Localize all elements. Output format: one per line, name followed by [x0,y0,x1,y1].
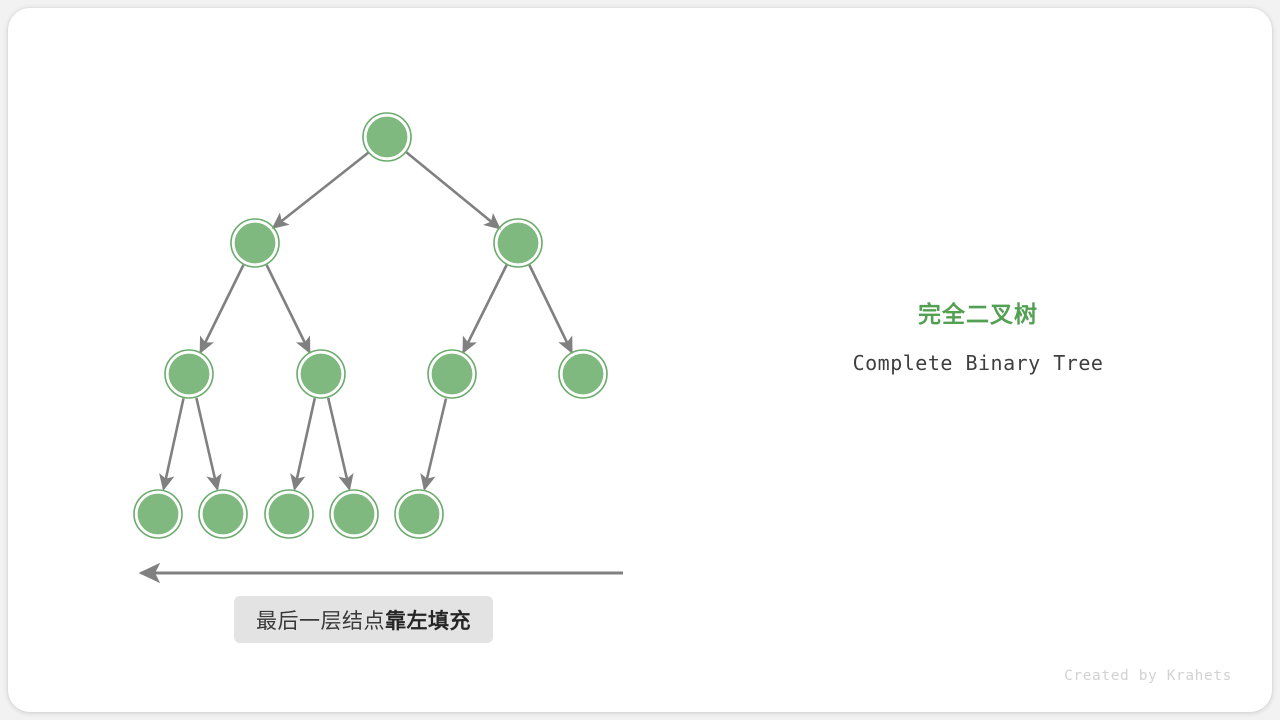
node-disc [269,494,310,535]
node-disc [399,494,440,535]
tree-nodes [134,113,607,538]
watermark: Created by Krahets [1064,668,1232,684]
edge-n0-n2 [406,152,500,228]
edge-n4-n10 [328,398,349,489]
tree-node-level3-3[interactable] [265,490,313,538]
tree-node-level3-1[interactable] [134,490,182,538]
caption-block: 完全二叉树 Complete Binary Tree [768,300,1188,376]
tree-edges [164,152,572,489]
node-disc [498,223,539,264]
edge-n2-n6 [529,265,571,352]
screenshot-stage: 完全二叉树 Complete Binary Tree 最后一层结点靠左填充 Cr… [0,0,1280,720]
node-disc [367,117,408,158]
page-title: 完全二叉树 [768,300,1188,328]
page-subtitle: Complete Binary Tree [768,350,1188,376]
edge-n3-n7 [164,398,184,489]
tree-node-root[interactable] [363,113,411,161]
edge-n1-n3 [201,265,244,352]
tree-node-level2-2[interactable] [297,350,345,398]
edge-n5-n11 [425,399,447,490]
tree-node-level3-2[interactable] [199,490,247,538]
edge-n4-n9 [295,398,315,489]
node-disc [235,223,276,264]
annotation-pill: 最后一层结点靠左填充 [234,596,493,643]
edge-n2-n5 [463,265,506,352]
edge-n0-n1 [273,152,368,227]
tree-node-level2-3[interactable] [428,350,476,398]
node-disc [203,494,244,535]
node-disc [169,354,210,395]
node-disc [563,354,604,395]
tree-node-level3-5[interactable] [395,490,443,538]
tree-node-level1-right[interactable] [494,219,542,267]
edge-n1-n4 [267,265,310,352]
node-disc [301,354,342,395]
annotation-text-bold: 靠左填充 [385,605,471,635]
node-disc [432,354,473,395]
tree-node-level1-left[interactable] [231,219,279,267]
tree-node-level3-4[interactable] [330,490,378,538]
node-disc [138,494,179,535]
annotation-text-normal: 最后一层结点 [256,605,385,635]
edge-n3-n8 [196,398,217,489]
node-disc [334,494,375,535]
tree-node-level2-4[interactable] [559,350,607,398]
tree-node-level2-1[interactable] [165,350,213,398]
diagram-card: 完全二叉树 Complete Binary Tree 最后一层结点靠左填充 Cr… [8,8,1272,712]
